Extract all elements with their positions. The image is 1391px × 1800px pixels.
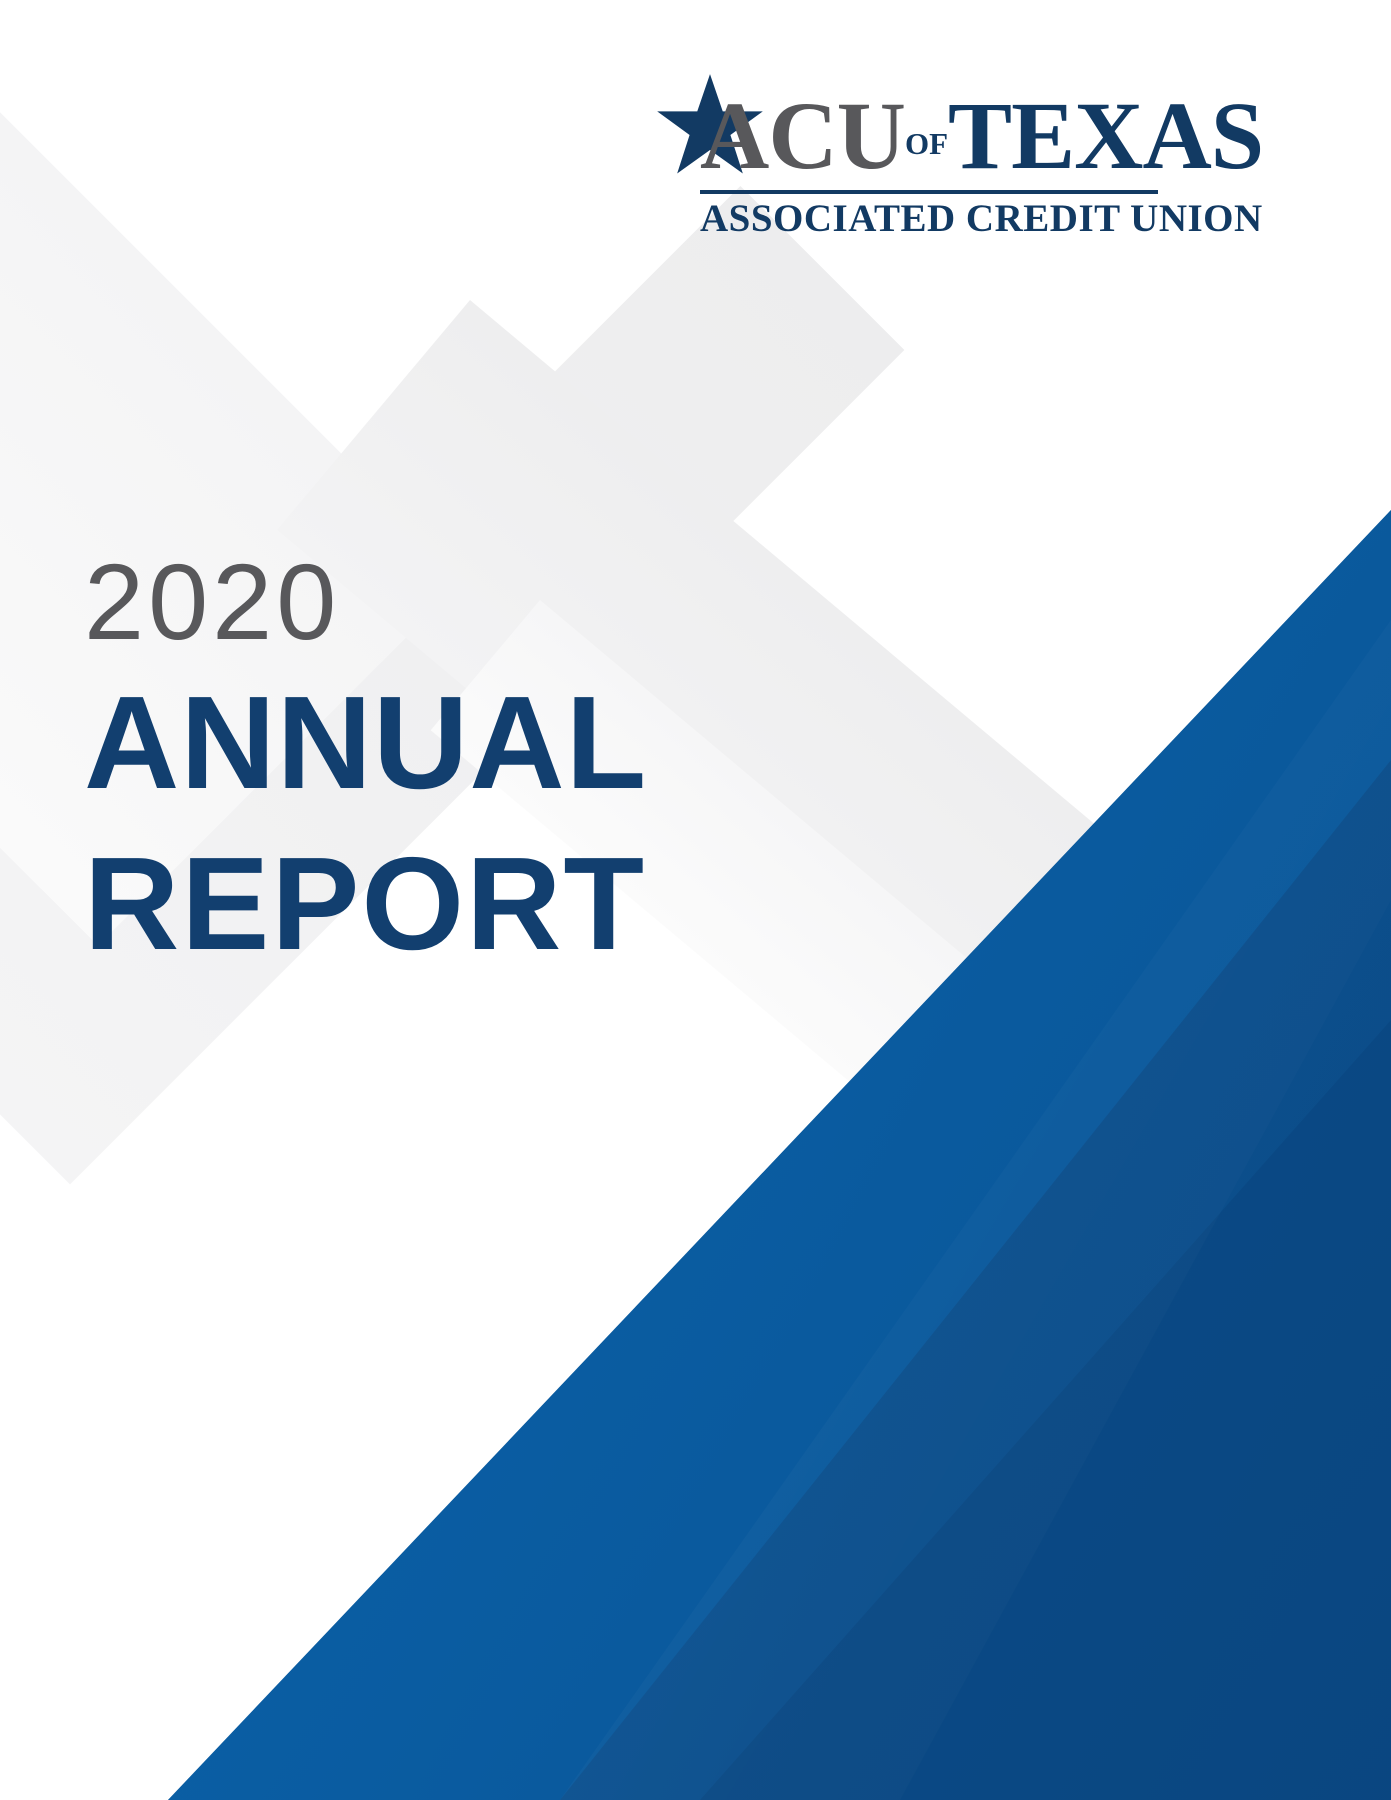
logo-divider-rule [700,190,1158,194]
title-line-report: REPORT [84,823,804,984]
logo-tagline-text: ASSOCIATED CREDIT UNION [700,196,1158,241]
logo-of-text: OF [905,126,948,161]
logo-wordmark-row: ACUOFTEXAS [648,74,1158,189]
logo-acu-text: ACU [700,82,905,189]
logo-wordmark-text: ACUOFTEXAS [700,88,1263,184]
logo-texas-text: TEXAS [948,82,1263,189]
report-year: 2020 [84,545,804,658]
cover-title-block: 2020 ANNUAL REPORT [84,545,804,984]
organization-logo: ACUOFTEXAS ASSOCIATED CREDIT UNION [648,74,1158,189]
report-cover-page: ACUOFTEXAS ASSOCIATED CREDIT UNION 2020 … [0,0,1391,1800]
page-title: ANNUAL REPORT [84,662,804,984]
title-line-annual: ANNUAL [84,662,804,823]
